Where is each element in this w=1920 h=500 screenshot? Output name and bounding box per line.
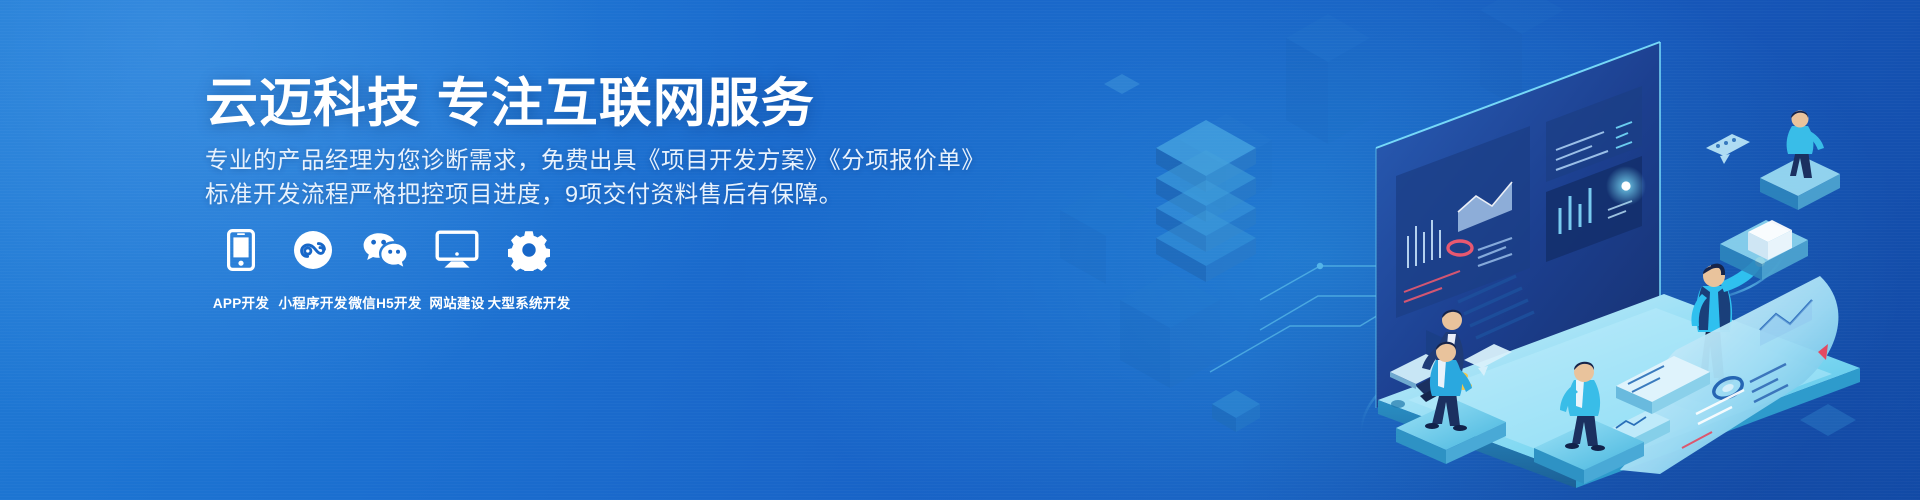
service-label: 网站建设	[429, 292, 484, 312]
service-icon-row: APP开发 小程序开发	[205, 228, 565, 312]
service-item-app[interactable]: APP开发	[205, 228, 277, 312]
banner-subtitle: 专业的产品经理为您诊断需求，免费出具《项目开发方案》《分项报价单》 标准开发流程…	[205, 143, 985, 211]
subtitle-line-1: 专业的产品经理为您诊断需求，免费出具《项目开发方案》《分项报价单》	[205, 143, 985, 177]
floating-chat-icon	[1706, 134, 1750, 164]
subtitle-line-2: 标准开发流程严格把控项目进度，9项交付资料售后有保障。	[205, 177, 985, 211]
service-label: 小程序开发	[279, 292, 348, 312]
person-upper-step	[1760, 111, 1840, 211]
service-item-website[interactable]: 网站建设	[421, 228, 493, 312]
service-label: APP开发	[213, 292, 269, 312]
mini-program-icon	[293, 228, 333, 272]
right-platforms	[1706, 111, 1840, 281]
isometric-tech-illustration	[1060, 0, 1920, 500]
service-item-large-system[interactable]: 大型系统开发	[493, 228, 565, 312]
promo-banner: 云迈科技 专注互联网服务 专业的产品经理为您诊断需求，免费出具《项目开发方案》《…	[0, 0, 1920, 500]
service-item-mini-program[interactable]: 小程序开发	[277, 228, 349, 312]
monitor-icon	[435, 228, 479, 272]
service-label: 大型系统开发	[488, 292, 571, 312]
server-blocks	[1156, 120, 1256, 282]
banner-content: 云迈科技 专注互联网服务 专业的产品经理为您诊断需求，免费出具《项目开发方案》《…	[205, 0, 1105, 500]
service-item-wechat-h5[interactable]: 微信H5开发	[349, 228, 421, 312]
gear-icon	[508, 228, 550, 272]
banner-headline: 云迈科技 专注互联网服务	[205, 76, 815, 132]
wechat-icon	[362, 228, 408, 272]
service-label: 微信H5开发	[348, 292, 421, 312]
mobile-phone-icon	[227, 228, 255, 272]
